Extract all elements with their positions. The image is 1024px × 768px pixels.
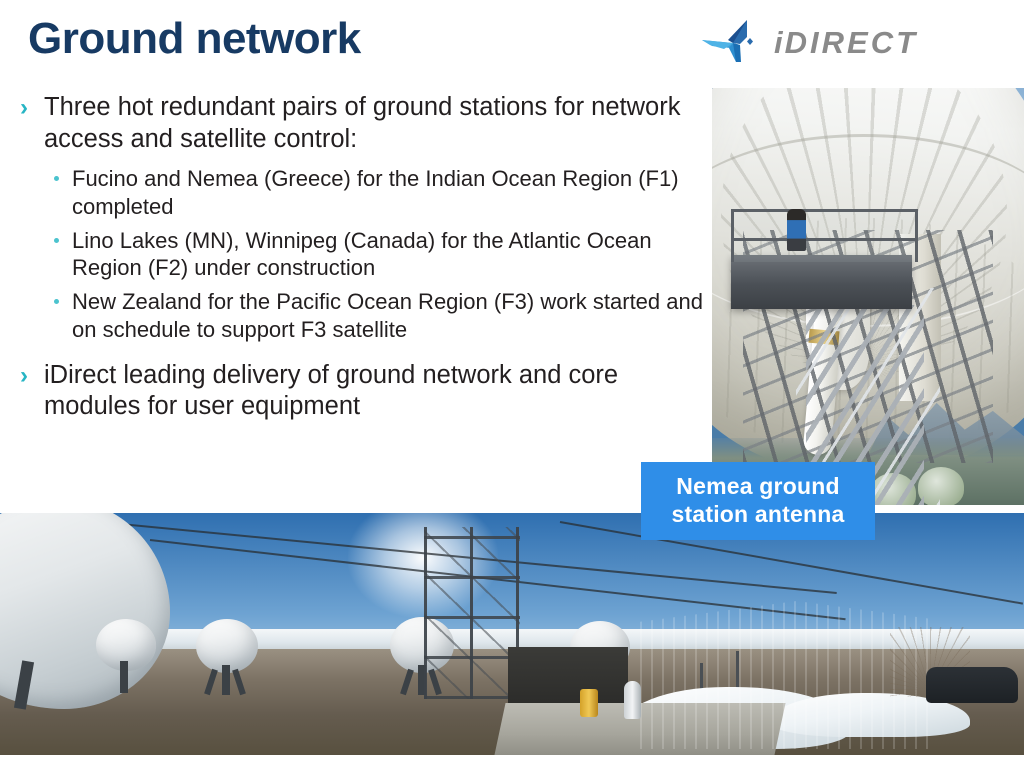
bullet-text: iDirect leading delivery of ground netwo… — [44, 361, 618, 421]
bullet-level2-2: Lino Lakes (MN), Winnipeg (Canada) for t… — [16, 227, 706, 282]
idirect-star-arrow-icon — [700, 18, 772, 66]
parked-vehicle — [926, 667, 1018, 703]
platform-railing — [731, 209, 918, 262]
bullet-level2-3: New Zealand for the Pacific Ocean Region… — [16, 288, 706, 343]
sub-bullet-list: Fucino and Nemea (Greece) for the Indian… — [16, 165, 706, 343]
slide: Ground network iDIRECT › Three hot redun… — [0, 0, 1024, 768]
dot-bullet-icon — [54, 176, 59, 181]
bullet-level1-1: › Three hot redundant pairs of ground st… — [16, 92, 706, 155]
dish-mount — [120, 661, 128, 693]
logo-word-text: DIRECT — [785, 25, 918, 60]
yellow-barrel — [580, 689, 598, 717]
dish-mount — [222, 665, 230, 695]
logo-lead-letter: i — [774, 25, 785, 60]
slide-footer-margin — [0, 755, 1024, 768]
bullet-text: Three hot redundant pairs of ground stat… — [44, 93, 680, 153]
bullet-text: Fucino and Nemea (Greece) for the Indian… — [72, 166, 679, 219]
dot-bullet-icon — [54, 299, 59, 304]
chevron-bullet-icon: › — [20, 93, 28, 123]
photo-caption: Nemea ground station antenna — [641, 462, 875, 540]
scaffolding-tower — [424, 527, 520, 699]
idirect-wordmark: iDIRECT — [774, 27, 918, 58]
bullet-text: New Zealand for the Pacific Ocean Region… — [72, 289, 703, 342]
idirect-logo: iDIRECT — [700, 14, 1000, 70]
page-title: Ground network — [28, 14, 361, 65]
teleport-building — [640, 601, 930, 749]
teleport-site-photo — [0, 513, 1024, 755]
bullet-level1-2: › iDirect leading delivery of ground net… — [16, 360, 706, 423]
technician-figure — [787, 209, 806, 251]
bullet-list: › Three hot redundant pairs of ground st… — [16, 92, 706, 427]
service-platform — [731, 255, 912, 309]
bullet-text: Lino Lakes (MN), Winnipeg (Canada) for t… — [72, 228, 652, 281]
chevron-bullet-icon: › — [20, 361, 28, 391]
gas-cylinder — [624, 681, 641, 719]
caption-line-2: station antenna — [672, 501, 845, 529]
caption-line-1: Nemea ground — [676, 473, 839, 501]
bullet-level2-1: Fucino and Nemea (Greece) for the Indian… — [16, 165, 706, 220]
nemea-antenna-photo — [712, 88, 1024, 505]
dot-bullet-icon — [54, 238, 59, 243]
